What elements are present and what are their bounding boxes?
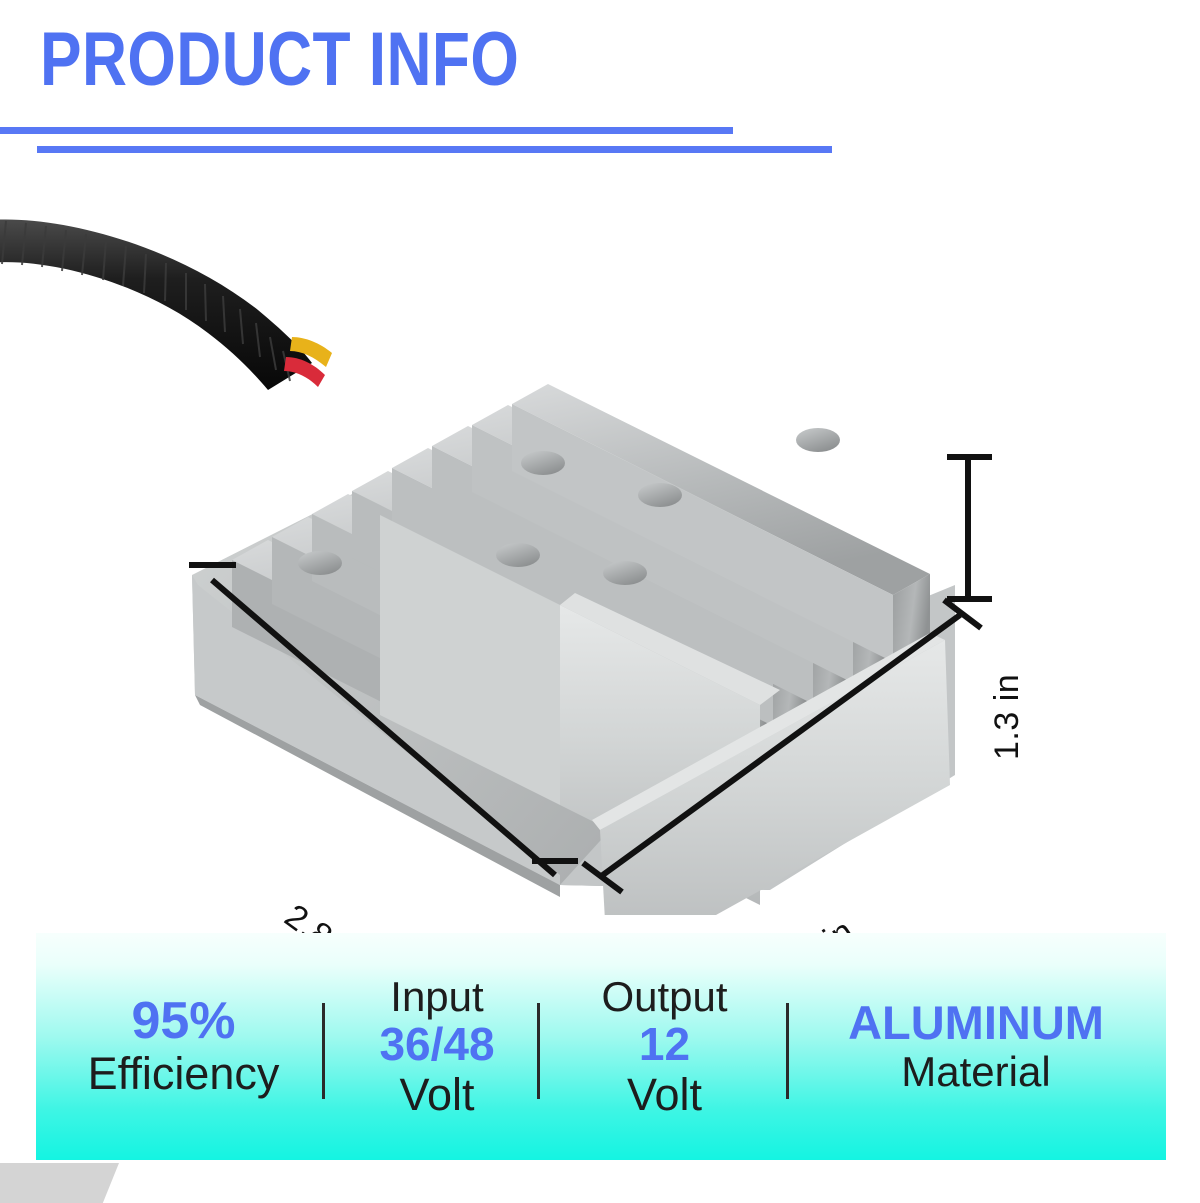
header-rule-bottom — [37, 146, 832, 153]
spec-cell-input: Input 36/48 Volt — [331, 933, 543, 1160]
spec-cell-efficiency: 95% Efficiency — [36, 933, 331, 1160]
spec-separator-2 — [537, 1003, 540, 1099]
page-title: PRODUCT INFO — [40, 22, 519, 98]
cable-sleeve — [0, 219, 312, 390]
output-unit-label: Volt — [627, 1070, 702, 1120]
product-illustration: 2.8 in 2.75 in 1.3 in — [0, 185, 1200, 915]
input-value: 36/48 — [379, 1020, 494, 1070]
efficiency-label: Efficiency — [88, 1049, 280, 1099]
output-top-label: Output — [601, 973, 727, 1020]
efficiency-value: 95% — [131, 993, 235, 1049]
spec-bar: 95% Efficiency Input 36/48 Volt Output 1… — [36, 933, 1166, 1160]
product-info-page: PRODUCT INFO — [0, 0, 1200, 1200]
header-rule-top — [0, 127, 733, 134]
corner-decoration — [0, 1163, 119, 1203]
spec-cell-material: ALUMINUM Material — [786, 933, 1166, 1160]
spec-cell-output: Output 12 Volt — [543, 933, 786, 1160]
output-value: 12 — [639, 1020, 690, 1070]
material-value: ALUMINUM — [848, 997, 1104, 1049]
input-top-label: Input — [390, 973, 483, 1020]
product-drawing — [0, 185, 1200, 915]
dimension-label-height: 1.3 in — [988, 674, 1027, 760]
material-label: Material — [901, 1048, 1050, 1096]
spec-separator-1 — [322, 1003, 325, 1099]
spec-separator-3 — [786, 1003, 789, 1099]
input-unit-label: Volt — [399, 1070, 474, 1120]
